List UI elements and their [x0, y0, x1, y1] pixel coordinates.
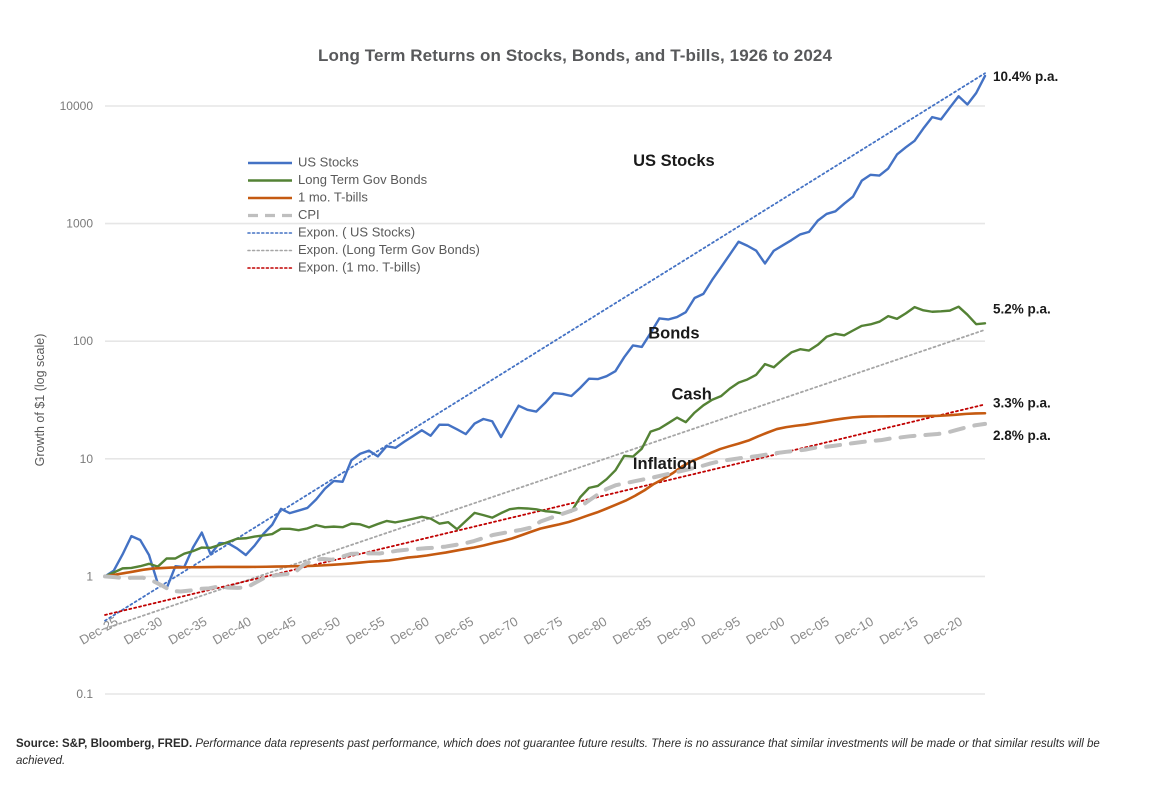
legend-label: Long Term Gov Bonds [298, 172, 428, 187]
x-tick-label: Dec-95 [699, 614, 743, 648]
y-axis-ticks: 0.1110100100010000 [60, 99, 94, 701]
series-line-1-mo-t-bills [105, 413, 985, 576]
x-tick-label: Dec-90 [654, 614, 698, 648]
x-tick-label: Dec-60 [388, 614, 432, 648]
x-tick-label: Dec-75 [521, 614, 565, 648]
rate-annotations: 10.4% p.a.5.2% p.a.3.3% p.a.2.8% p.a. [993, 69, 1058, 443]
series-annotation: US Stocks [633, 152, 715, 170]
legend-label: CPI [298, 207, 320, 222]
rate-annotation: 10.4% p.a. [993, 69, 1058, 84]
x-tick-label: Dec-05 [788, 614, 832, 648]
x-tick-label: Dec-25 [77, 614, 121, 648]
x-tick-label: Dec-50 [299, 614, 343, 648]
series-annotation: Inflation [633, 455, 697, 473]
x-tick-label: Dec-45 [254, 614, 298, 648]
y-tick-label: 10 [80, 452, 94, 466]
x-tick-label: Dec-15 [877, 614, 921, 648]
rate-annotation: 5.2% p.a. [993, 301, 1051, 316]
footnote-source: Source: S&P, Bloomberg, FRED. [16, 738, 192, 750]
chart-container: Long Term Returns on Stocks, Bonds, and … [0, 0, 1150, 788]
chart-legend: US StocksLong Term Gov Bonds1 mo. T-bill… [248, 154, 480, 274]
rate-annotation: 3.3% p.a. [993, 396, 1051, 411]
legend-label: Expon. ( US Stocks) [298, 224, 415, 239]
series-annotation: Cash [671, 385, 711, 403]
legend-label: US Stocks [298, 154, 359, 169]
x-tick-label: Dec-20 [921, 614, 965, 648]
data-series [105, 76, 985, 592]
y-tick-label: 0.1 [76, 687, 93, 701]
x-tick-label: Dec-70 [477, 614, 521, 648]
rate-annotation: 2.8% p.a. [993, 428, 1051, 443]
legend-label: 1 mo. T-bills [298, 189, 368, 204]
y-tick-label: 100 [73, 334, 93, 348]
x-tick-label: Dec-35 [166, 614, 210, 648]
x-tick-label: Dec-10 [832, 614, 876, 648]
y-axis-title: Growth of $1 (log scale) [33, 334, 47, 467]
x-tick-label: Dec-30 [121, 614, 165, 648]
y-tick-label: 10000 [60, 99, 94, 113]
x-tick-label: Dec-55 [343, 614, 387, 648]
footnote: Source: S&P, Bloomberg, FRED. Performanc… [16, 736, 1126, 769]
x-tick-label: Dec-85 [610, 614, 654, 648]
legend-label: Expon. (1 mo. T-bills) [298, 259, 421, 274]
x-tick-label: Dec-65 [432, 614, 476, 648]
y-tick-label: 1 [86, 569, 93, 583]
trendlines [105, 73, 985, 628]
chart-plot-area: 0.1110100100010000Growth of $1 (log scal… [0, 0, 1150, 788]
trendline [105, 404, 985, 615]
series-annotation: Bonds [648, 325, 699, 343]
y-tick-label: 1000 [66, 217, 93, 231]
legend-label: Expon. (Long Term Gov Bonds) [298, 242, 480, 257]
x-axis-ticks: Dec-25Dec-30Dec-35Dec-40Dec-45Dec-50Dec-… [77, 614, 965, 648]
x-tick-label: Dec-40 [210, 614, 254, 648]
inline-annotations: US StocksBondsCashInflation [633, 152, 715, 473]
x-tick-label: Dec-80 [566, 614, 610, 648]
x-tick-label: Dec-00 [743, 614, 787, 648]
